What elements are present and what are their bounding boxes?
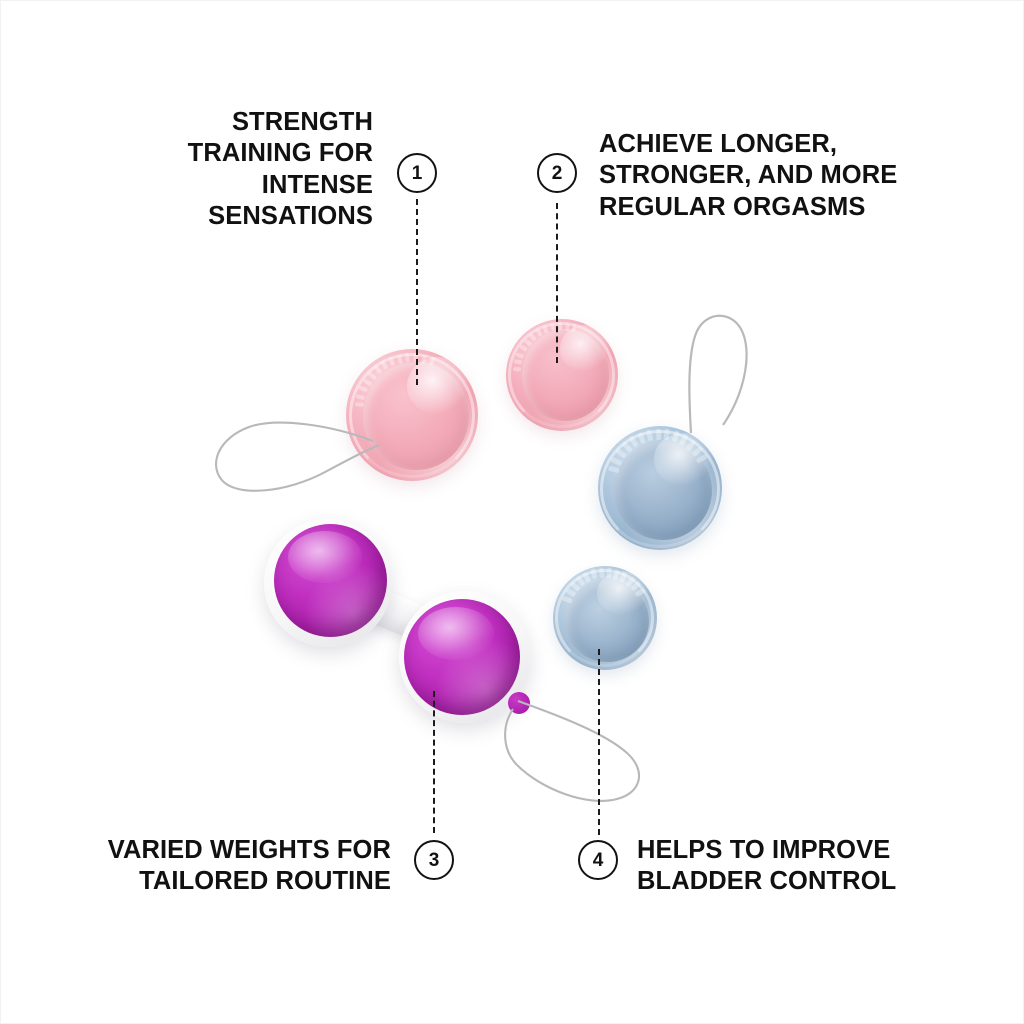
callout-badge-4[interactable]: 4	[578, 840, 618, 880]
leader-line-1	[416, 199, 418, 385]
duo-ball-retrieval-cord	[505, 701, 639, 801]
product-infographic: 1 2 3 4 STRENGTH TRAINING FOR INTENSE SE…	[0, 0, 1024, 1024]
callout-badge-2[interactable]: 2	[537, 153, 577, 193]
product-image-stage	[1, 1, 1024, 1024]
blue-ball-wire-loop	[689, 316, 746, 433]
leader-line-2	[556, 203, 558, 363]
callout-badge-1[interactable]: 1	[397, 153, 437, 193]
leader-line-3	[433, 691, 435, 833]
retrieval-cords	[1, 1, 1024, 1024]
pink-ball-retrieval-cord	[216, 423, 379, 491]
callout-badge-3[interactable]: 3	[414, 840, 454, 880]
leader-line-4	[598, 649, 600, 835]
